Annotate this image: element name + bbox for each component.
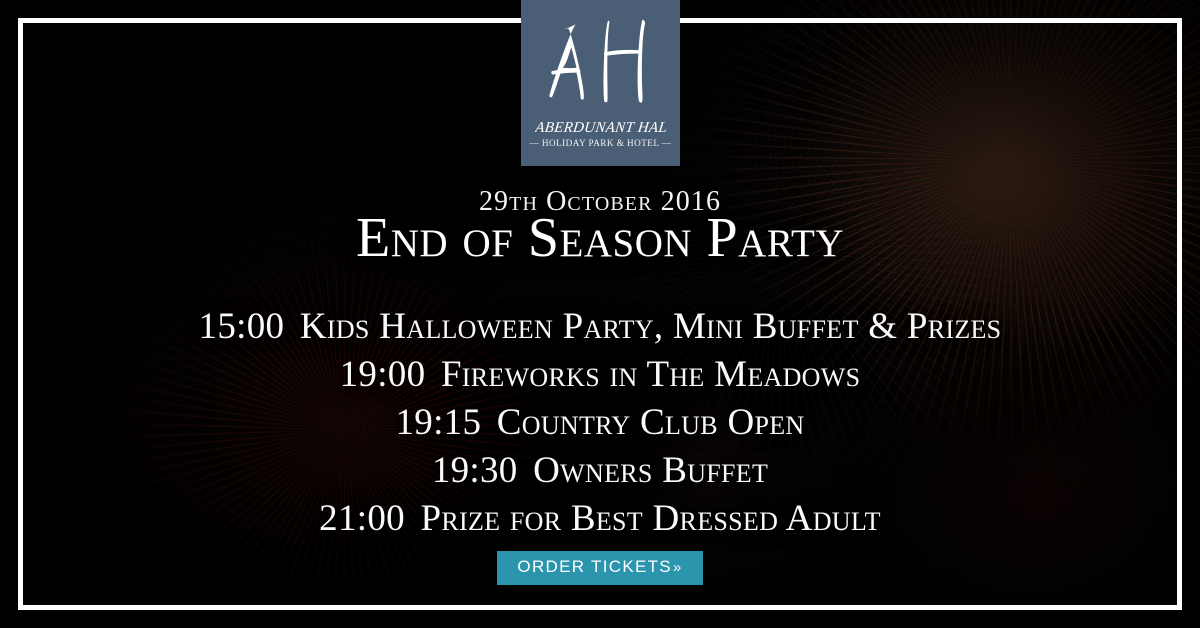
order-tickets-button[interactable]: ORDER TICKETS» <box>497 551 702 585</box>
svg-text:ABERDUNANT HALL: ABERDUNANT HALL <box>535 120 667 136</box>
schedule-event: Prize for Best Dressed Adult <box>420 498 880 539</box>
schedule-list: 15:00Kids Halloween Party, Mini Buffet &… <box>0 303 1200 543</box>
schedule-event: Country Club Open <box>497 402 805 443</box>
schedule-time: 19:00 <box>340 354 426 395</box>
cta-container: ORDER TICKETS» <box>0 551 1200 585</box>
schedule-time: 15:00 <box>199 306 285 347</box>
schedule-row: 21:00Prize for Best Dressed Adult <box>0 495 1200 543</box>
schedule-time: 19:30 <box>432 450 518 491</box>
page-title: End of Season Party <box>0 209 1200 267</box>
schedule-event: Kids Halloween Party, Mini Buffet & Priz… <box>300 306 1002 347</box>
schedule-event: Owners Buffet <box>533 450 768 491</box>
schedule-row: 19:15Country Club Open <box>0 399 1200 447</box>
schedule-row: 19:30Owners Buffet <box>0 447 1200 495</box>
ah-monogram-icon <box>537 18 665 110</box>
brand-logo[interactable]: ABERDUNANT HALL — HOLIDAY PARK & HOTEL — <box>521 0 680 166</box>
schedule-time: 19:15 <box>395 402 481 443</box>
schedule-event: Fireworks in The Meadows <box>441 354 860 395</box>
schedule-time: 21:00 <box>319 498 405 539</box>
brand-wordmark-icon: ABERDUNANT HALL <box>535 116 667 137</box>
schedule-row: 19:00Fireworks in The Meadows <box>0 351 1200 399</box>
schedule-row: 15:00Kids Halloween Party, Mini Buffet &… <box>0 303 1200 351</box>
event-poster: ABERDUNANT HALL — HOLIDAY PARK & HOTEL —… <box>0 0 1200 628</box>
chevron-right-icon: » <box>673 559 683 576</box>
brand-tagline: — HOLIDAY PARK & HOTEL — <box>530 138 672 148</box>
order-tickets-label: ORDER TICKETS <box>517 557 672 576</box>
